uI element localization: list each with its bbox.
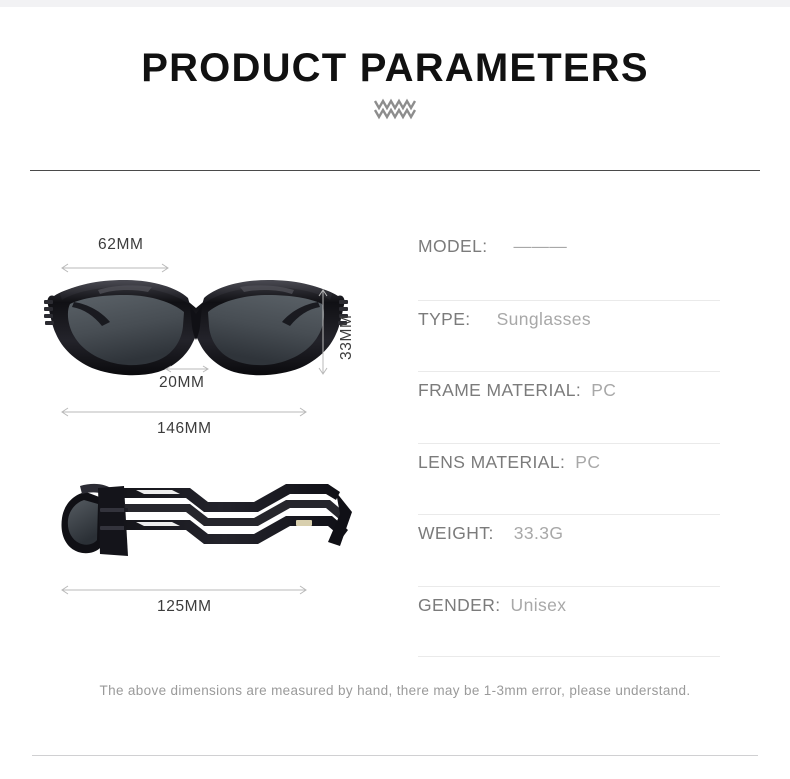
sunglasses-front-view: 62MM 33MM 20MM 146MM (40, 232, 370, 447)
footer-divider (32, 755, 758, 756)
logo-plate (296, 520, 312, 526)
dimension-line-lens-width (62, 264, 168, 272)
dimension-label-temple-length: 125MM (157, 598, 212, 616)
dimension-line-temple-length (62, 586, 306, 594)
spec-row-frame-material: FRAME MATERIAL: PC (418, 371, 720, 443)
spec-value-weight: 33.3G (514, 523, 564, 544)
header-divider (30, 170, 760, 171)
spec-label-type: TYPE: (418, 309, 471, 330)
sunglasses-side-view: 125MM (40, 468, 370, 628)
dimension-label-lens-height: 33MM (338, 315, 356, 360)
spec-row-weight: WEIGHT: 33.3G (418, 514, 720, 586)
dimension-label-bridge-width: 20MM (159, 374, 204, 392)
spec-row-lens-material: LENS MATERIAL: PC (418, 443, 720, 515)
spec-row-type: TYPE: Sunglasses (418, 300, 720, 372)
spec-value-frame-material: PC (591, 380, 616, 401)
spec-value-model: ——— (514, 236, 568, 257)
dimension-label-total-width: 146MM (157, 420, 212, 438)
spec-value-lens-material: PC (575, 452, 600, 473)
spec-label-weight: WEIGHT: (418, 523, 494, 544)
spec-row-gender: GENDER: Unisex (418, 586, 720, 658)
spec-label-lens-material: LENS MATERIAL: (418, 452, 565, 473)
dimension-line-total-width (62, 408, 306, 416)
dimension-line-bridge-width (166, 366, 208, 372)
spec-label-model: MODEL: (418, 236, 488, 257)
page-title: PRODUCT PARAMETERS (0, 45, 790, 91)
product-parameters-page: PRODUCT PARAMETERS (0, 0, 790, 779)
spec-list: MODEL: ——— TYPE: Sunglasses FRAME MATERI… (418, 228, 720, 657)
spec-value-gender: Unisex (511, 595, 567, 616)
dimension-label-lens-width: 62MM (98, 236, 143, 254)
spec-value-type: Sunglasses (497, 309, 591, 330)
spec-label-gender: GENDER: (418, 595, 501, 616)
spec-row-model: MODEL: ——— (418, 228, 720, 300)
temple-root (98, 486, 128, 556)
measurement-disclaimer: The above dimensions are measured by han… (0, 683, 790, 698)
top-accent-band (0, 0, 790, 7)
spec-label-frame-material: FRAME MATERIAL: (418, 380, 581, 401)
zigzag-wave-ornament (0, 95, 790, 123)
